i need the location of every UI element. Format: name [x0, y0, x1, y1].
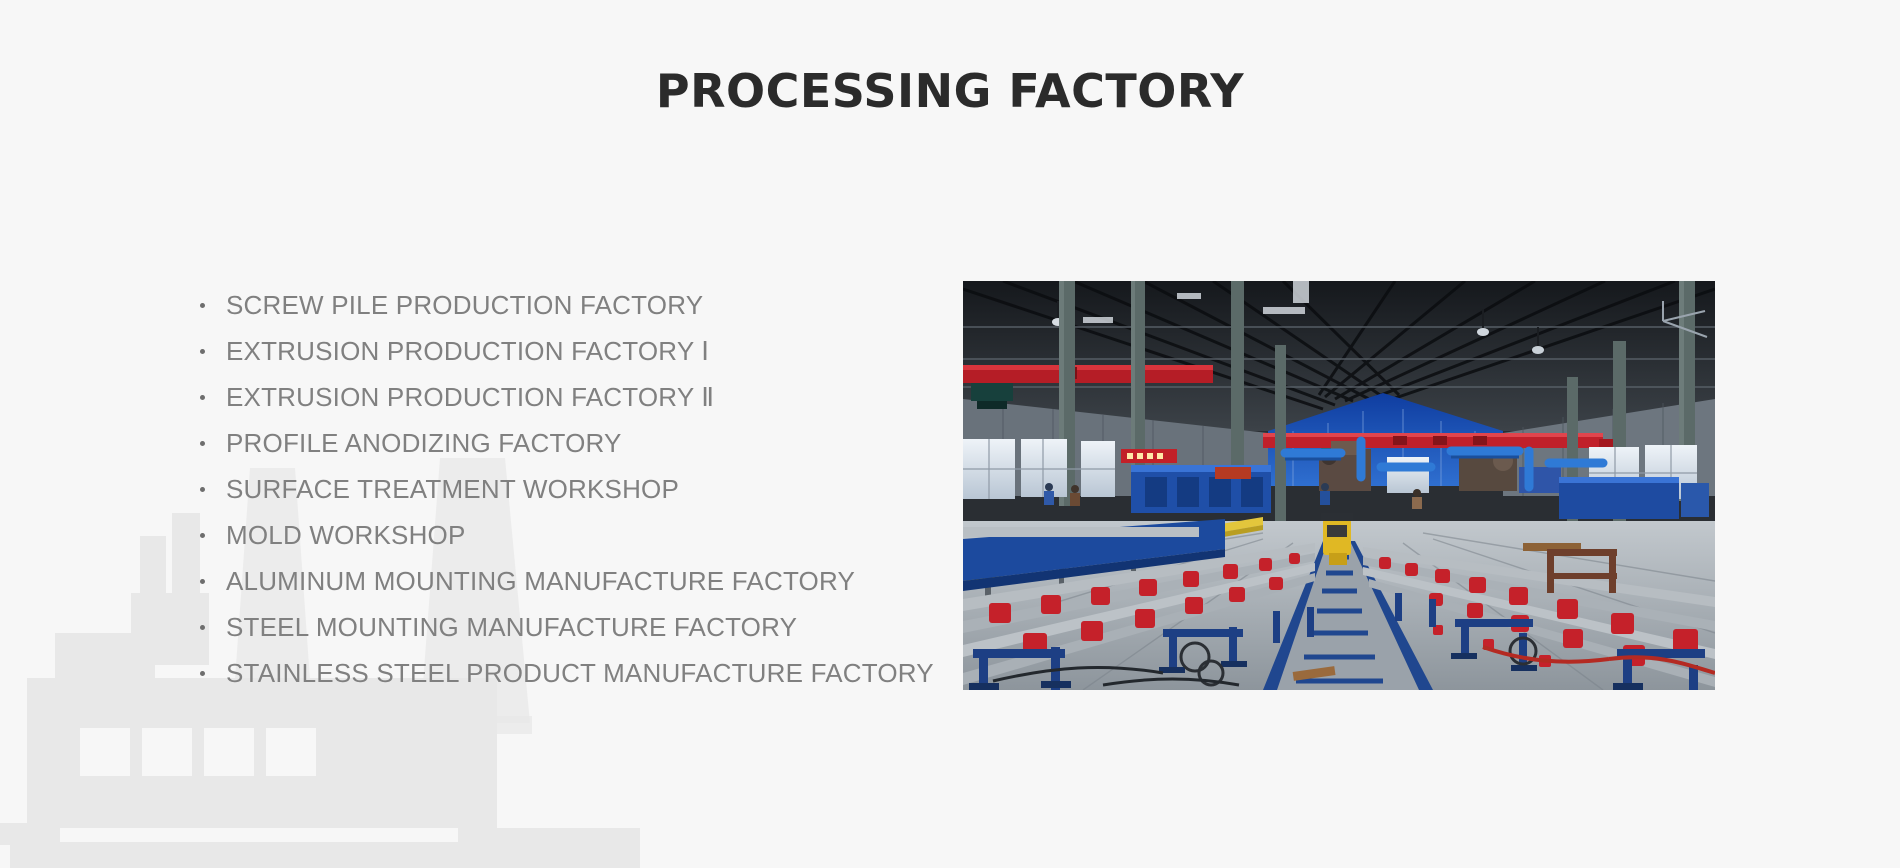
factory-interior-photo: [963, 281, 1715, 690]
list-item: STAINLESS STEEL PRODUCT MANUFACTURE FACT…: [196, 650, 916, 696]
list-item: ALUMINUM MOUNTING MANUFACTURE FACTORY: [196, 558, 916, 604]
list-item-label: ALUMINUM MOUNTING MANUFACTURE FACTORY: [226, 566, 855, 596]
bullet-dot-icon: [200, 441, 205, 446]
list-item-label: SCREW PILE PRODUCTION FACTORY: [226, 290, 703, 320]
list-item: STEEL MOUNTING MANUFACTURE FACTORY: [196, 604, 916, 650]
slide-root: PROCESSING FACTORY SCREW PILE PRODUCTION…: [0, 0, 1900, 868]
bullet-dot-icon: [200, 625, 205, 630]
bullet-dot-icon: [200, 533, 205, 538]
list-item: SCREW PILE PRODUCTION FACTORY: [196, 282, 916, 328]
list-item-label: STAINLESS STEEL PRODUCT MANUFACTURE FACT…: [226, 658, 934, 688]
bullet-dot-icon: [200, 487, 205, 492]
bullet-dot-icon: [200, 671, 205, 676]
bullet-dot-icon: [200, 303, 205, 308]
list-item-label: EXTRUSION PRODUCTION FACTORY Ⅱ: [226, 382, 714, 412]
bullet-dot-icon: [200, 395, 205, 400]
list-item-label: EXTRUSION PRODUCTION FACTORY Ⅰ: [226, 336, 709, 366]
bullet-dot-icon: [200, 349, 205, 354]
list-item-label: SURFACE TREATMENT WORKSHOP: [226, 474, 679, 504]
bullet-dot-icon: [200, 579, 205, 584]
list-item: EXTRUSION PRODUCTION FACTORY Ⅰ: [196, 328, 916, 374]
list-item-label: PROFILE ANODIZING FACTORY: [226, 428, 622, 458]
factory-list: SCREW PILE PRODUCTION FACTORY EXTRUSION …: [196, 282, 916, 696]
list-item: PROFILE ANODIZING FACTORY: [196, 420, 916, 466]
list-item: MOLD WORKSHOP: [196, 512, 916, 558]
page-title: PROCESSING FACTORY: [0, 66, 1900, 117]
list-item-label: MOLD WORKSHOP: [226, 520, 466, 550]
list-item: SURFACE TREATMENT WORKSHOP: [196, 466, 916, 512]
list-item-label: STEEL MOUNTING MANUFACTURE FACTORY: [226, 612, 797, 642]
list-item: EXTRUSION PRODUCTION FACTORY Ⅱ: [196, 374, 916, 420]
